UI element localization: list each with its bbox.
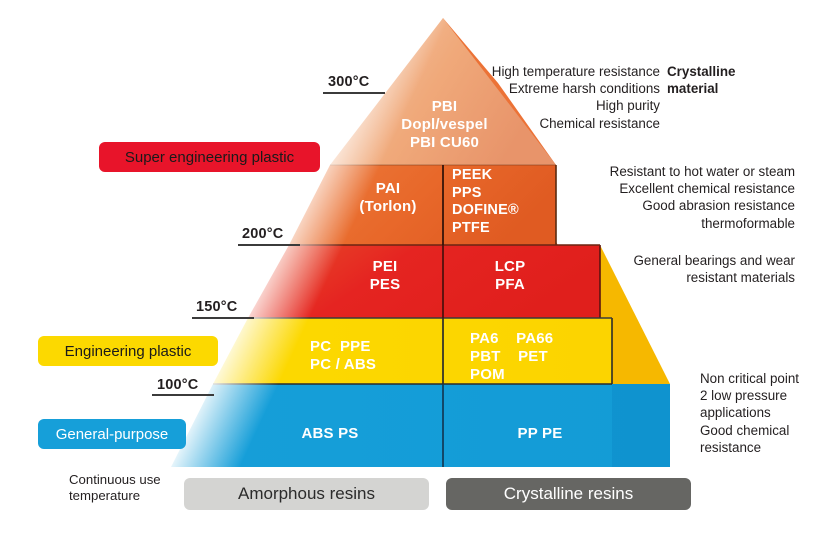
category-badge-general-purpose[interactable]: General-purpose	[38, 419, 186, 449]
tier-abs-crystalline-label: PP PE	[470, 425, 610, 443]
temp-label-300: 300°C	[328, 74, 369, 90]
tier-pei-amorphous-label: PEI PES	[330, 258, 440, 294]
note-non-critical-point: Non critical point 2 low pressure applic…	[700, 370, 835, 456]
tier-pai-crystalline-label: PEEK PPS DOFINE® PTFE	[452, 167, 562, 237]
note-high-temperature-resistance: High temperature resistance Extreme hars…	[470, 63, 660, 132]
temp-rule-200	[238, 244, 300, 246]
temp-rule-100	[152, 394, 214, 396]
temp-label-100: 100°C	[157, 377, 198, 393]
tier-pei-crystalline-label: LCP PFA	[455, 258, 565, 294]
category-badge-super-engineering[interactable]: Super engineering plastic	[99, 142, 320, 172]
tier-pai-amorphous-label: PAI (Torlon)	[338, 180, 438, 216]
temp-rule-300	[323, 92, 385, 94]
tier-abs-amorphous-label: ABS PS	[250, 425, 410, 443]
note-general-bearings: General bearings and wear resistant mate…	[609, 252, 795, 286]
legend-pill-amorphous-resins[interactable]: Amorphous resins	[184, 478, 429, 510]
temp-label-150: 150°C	[196, 299, 237, 315]
tier-pc-crystalline-label: PA6 PA66 PBT PET POM	[470, 330, 620, 384]
category-badge-engineering[interactable]: Engineering plastic	[38, 336, 218, 366]
diagram-canvas: PBI Dopl/vespel PBI CU60 PAI (Torlon) PE…	[0, 0, 838, 543]
temp-label-200: 200°C	[242, 226, 283, 242]
legend-pill-crystalline-resins[interactable]: Crystalline resins	[446, 478, 691, 510]
note-crystalline-material: Crystalline material	[667, 63, 787, 97]
temp-rule-150	[192, 317, 254, 319]
note-hot-water-steam: Resistant to hot water or steam Excellen…	[565, 163, 795, 232]
tier-pc-amorphous-label: PC PPE PC / ABS	[310, 338, 440, 374]
